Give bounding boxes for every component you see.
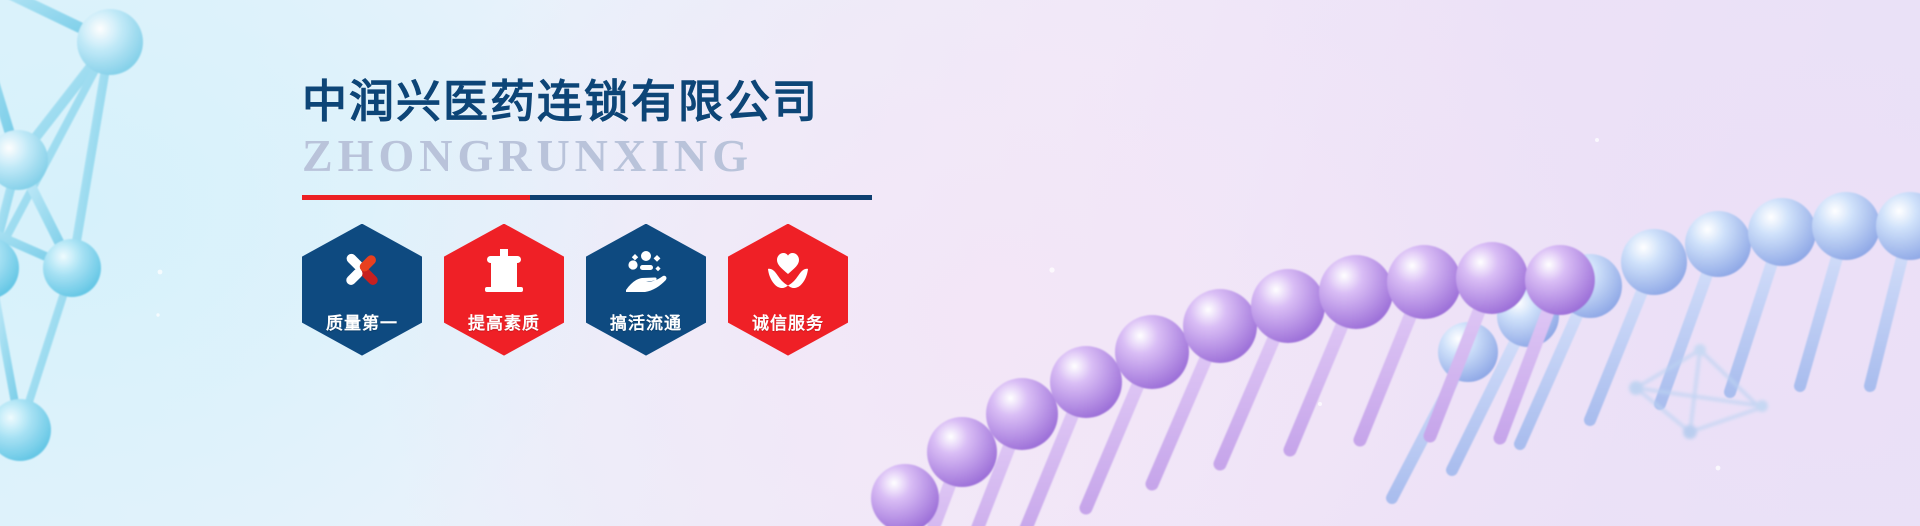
page-title: 中润兴医药连锁有限公司 bbox=[302, 78, 942, 127]
background-artwork bbox=[0, 0, 1920, 526]
capsule-pills-icon bbox=[302, 248, 422, 294]
banner-content: 中润兴医药连锁有限公司 ZHONGRUNXING bbox=[302, 78, 942, 356]
badge-active-circulation[interactable]: 搞活流通 bbox=[586, 224, 706, 356]
medicine-pot-icon bbox=[444, 248, 564, 294]
badge-list: 质量第一 提高素质 bbox=[302, 224, 942, 356]
divider bbox=[302, 195, 872, 200]
dna-strand-back bbox=[1392, 192, 1920, 498]
right-molecule-cluster bbox=[1629, 344, 1768, 439]
badge-label: 质量第一 bbox=[326, 309, 398, 334]
badge-quality-first[interactable]: 质量第一 bbox=[302, 224, 422, 356]
molecule-structure bbox=[0, 0, 143, 470]
divider-blue-segment bbox=[530, 195, 872, 200]
badge-integrity-service[interactable]: 诚信服务 bbox=[728, 224, 848, 356]
hand-sparkle-icon bbox=[586, 248, 706, 294]
dna-strand-front bbox=[852, 242, 1595, 526]
badge-label: 提高素质 bbox=[468, 309, 540, 334]
divider-red-segment bbox=[302, 195, 530, 200]
dna-helix bbox=[852, 192, 1920, 526]
badge-improve-quality[interactable]: 提高素质 bbox=[444, 224, 564, 356]
heart-in-hands-icon bbox=[728, 248, 848, 294]
badge-label: 搞活流通 bbox=[610, 309, 682, 334]
company-banner: 中润兴医药连锁有限公司 ZHONGRUNXING bbox=[0, 0, 1920, 526]
badge-label: 诚信服务 bbox=[752, 309, 824, 334]
company-name-pinyin: ZHONGRUNXING bbox=[302, 133, 942, 179]
